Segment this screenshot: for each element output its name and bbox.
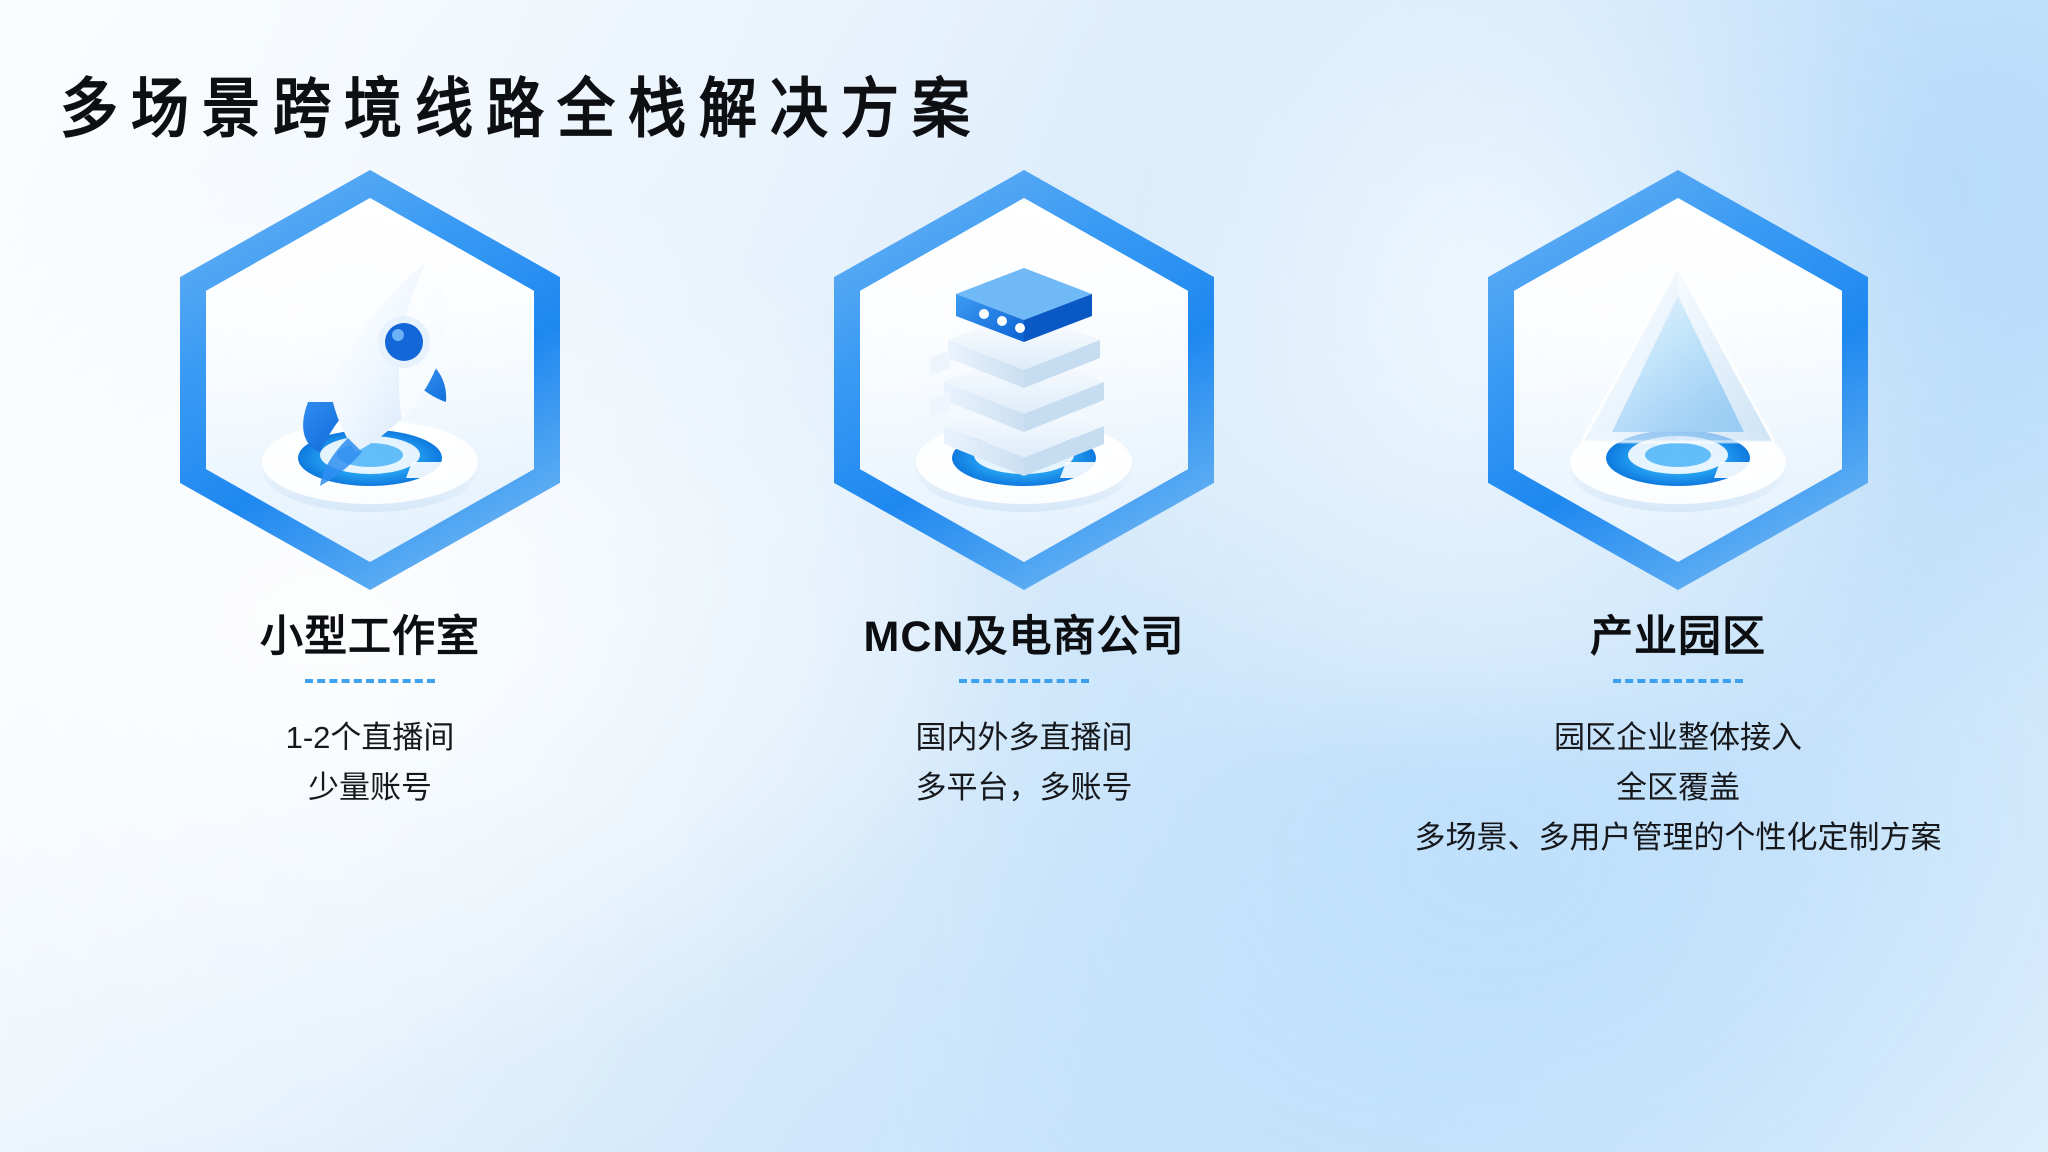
hexagon-badge bbox=[834, 170, 1214, 590]
hexagon-badge bbox=[180, 170, 560, 590]
card-title: 产业园区 bbox=[1590, 612, 1766, 663]
title-divider bbox=[305, 679, 435, 683]
card-description: 国内外多直播间 多平台，多账号 bbox=[916, 713, 1133, 813]
card-description: 园区企业整体接入 全区覆盖 多场景、多用户管理的个性化定制方案 bbox=[1415, 713, 1942, 864]
desc-line: 多场景、多用户管理的个性化定制方案 bbox=[1415, 813, 1942, 863]
scenario-card-industrial-park[interactable]: 产业园区 园区企业整体接入 全区覆盖 多场景、多用户管理的个性化定制方案 bbox=[1428, 170, 1928, 863]
pyramid-icon bbox=[1488, 170, 1868, 590]
card-title: MCN及电商公司 bbox=[864, 612, 1185, 663]
desc-line: 园区企业整体接入 bbox=[1415, 713, 1942, 763]
desc-line: 全区覆盖 bbox=[1415, 763, 1942, 813]
scenario-card-small-studio[interactable]: 小型工作室 1-2个直播间 少量账号 bbox=[120, 170, 620, 813]
desc-line: 多平台，多账号 bbox=[916, 763, 1133, 813]
scenario-card-mcn-ecommerce[interactable]: MCN及电商公司 国内外多直播间 多平台，多账号 bbox=[774, 170, 1274, 813]
card-title: 小型工作室 bbox=[260, 612, 480, 663]
desc-line: 国内外多直播间 bbox=[916, 713, 1133, 763]
rocket-icon bbox=[180, 170, 560, 590]
scenario-card-row: 小型工作室 1-2个直播间 少量账号 bbox=[0, 170, 2048, 863]
desc-line: 1-2个直播间 bbox=[286, 713, 455, 763]
server-stack-icon bbox=[834, 170, 1214, 590]
title-divider bbox=[959, 679, 1089, 683]
card-description: 1-2个直播间 少量账号 bbox=[286, 713, 455, 813]
hexagon-badge bbox=[1488, 170, 1868, 590]
title-divider bbox=[1613, 679, 1743, 683]
slide-root: 多场景跨境线路全栈解决方案 bbox=[0, 0, 2048, 1152]
desc-line: 少量账号 bbox=[286, 763, 455, 813]
page-title: 多场景跨境线路全栈解决方案 bbox=[60, 56, 983, 150]
